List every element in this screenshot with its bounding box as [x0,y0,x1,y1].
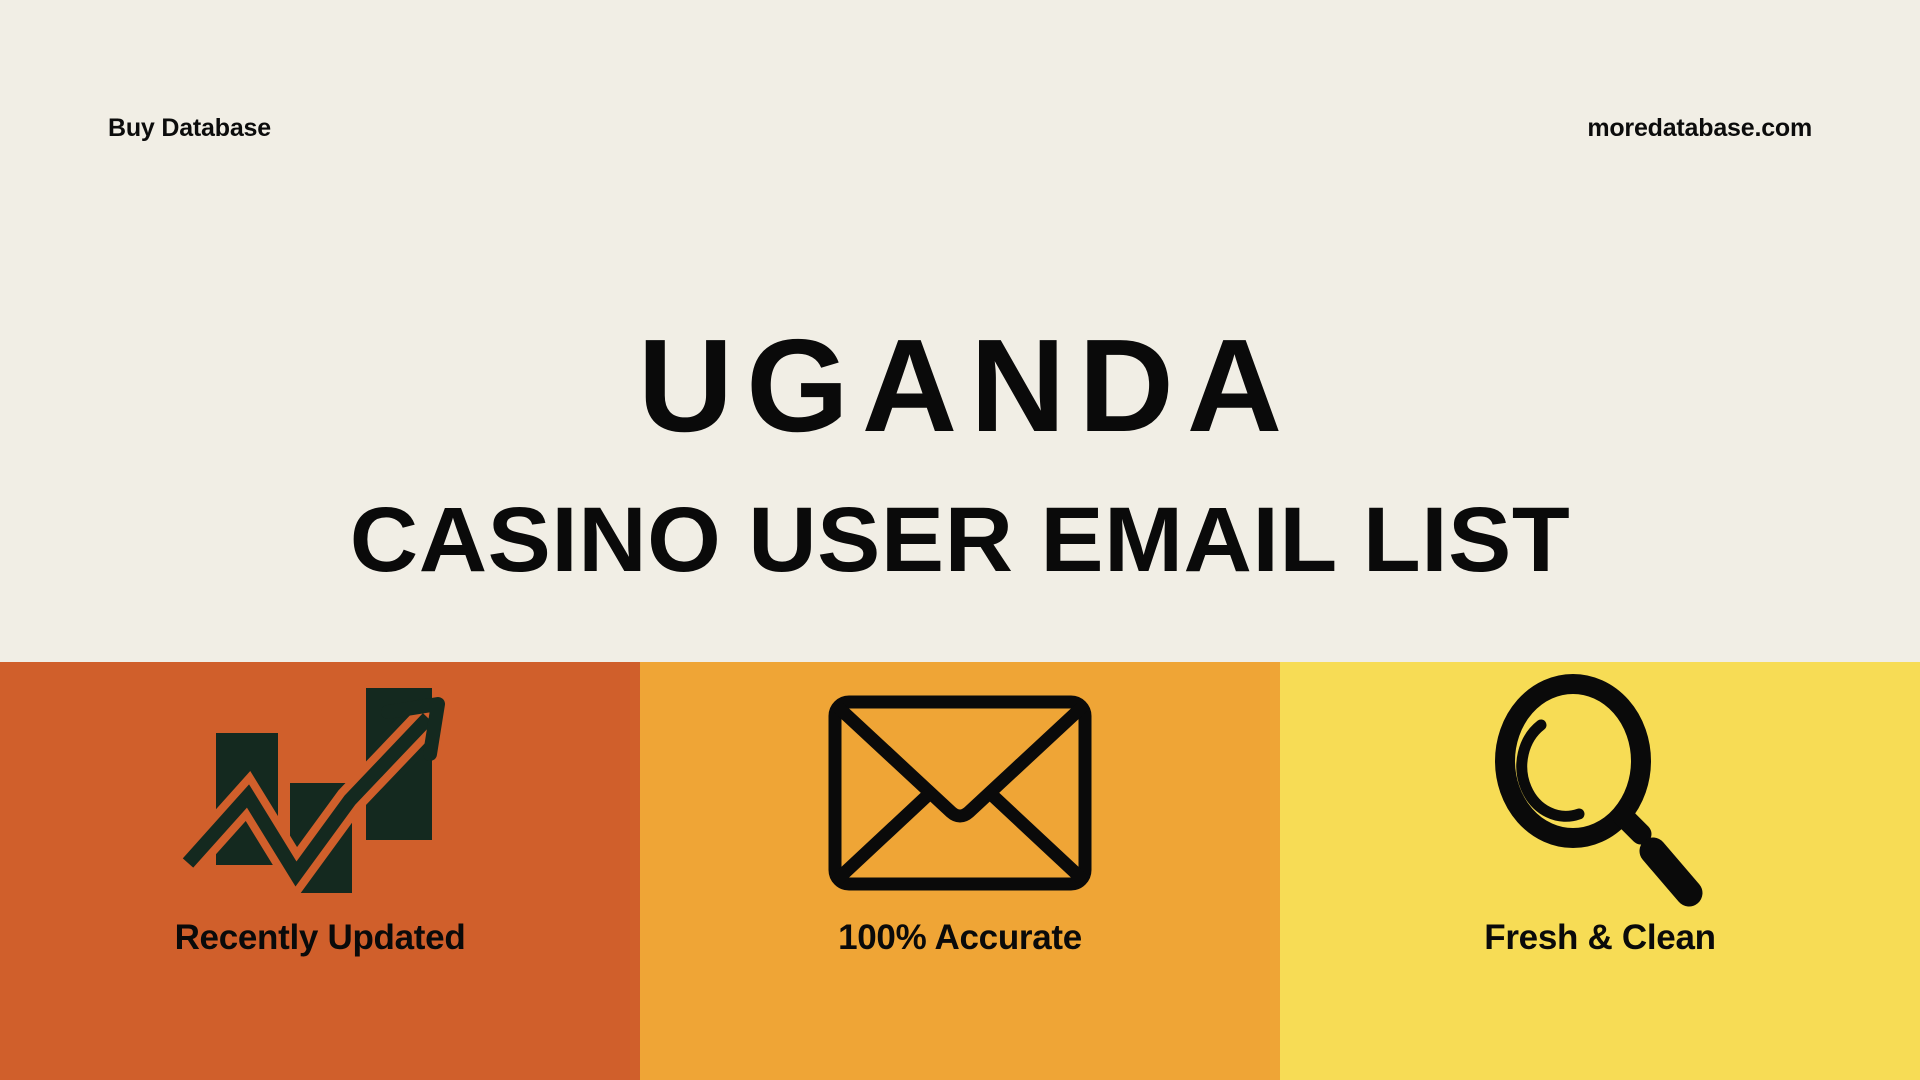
promo-banner: Buy Database moredatabase.com UGANDA CAS… [0,0,1920,1080]
feature-label-fresh-clean: Fresh & Clean [1484,920,1715,955]
page-subtitle: CASINO USER EMAIL LIST [0,494,1920,586]
magnifying-glass-icon [1475,678,1725,908]
page-title: UGANDA [0,320,1920,452]
website-url: moredatabase.com [1587,116,1812,141]
brand-name: Buy Database [108,116,271,141]
feature-panel-recently-updated: Recently Updated [0,662,640,1080]
brand-row: Buy Database moredatabase.com [0,108,1920,148]
bar-chart-growth-icon [170,678,470,908]
feature-label-recently-updated: Recently Updated [175,920,466,955]
envelope-icon [825,678,1095,908]
feature-panels: Recently Updated 100% Accurate [0,662,1920,1080]
feature-panel-fresh-clean: Fresh & Clean [1280,662,1920,1080]
banner-header: Buy Database moredatabase.com UGANDA CAS… [0,0,1920,662]
feature-panel-accurate: 100% Accurate [640,662,1280,1080]
feature-label-accurate: 100% Accurate [838,920,1082,955]
title-block: UGANDA CASINO USER EMAIL LIST [0,320,1920,586]
